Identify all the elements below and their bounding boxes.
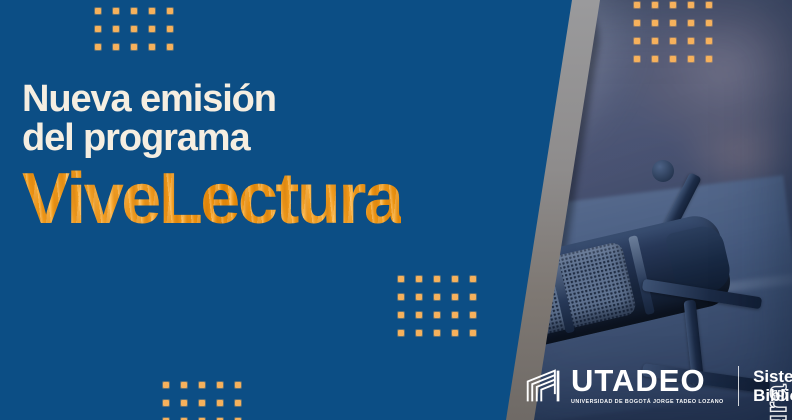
- decorative-dot: [398, 294, 404, 300]
- decorative-dot: [181, 400, 187, 406]
- decorative-dot: [416, 330, 422, 336]
- decorative-dot: [235, 382, 241, 388]
- decorative-dot: [652, 2, 658, 8]
- decorative-dot: [452, 276, 458, 282]
- decorative-dot: [167, 8, 173, 14]
- decorative-dot: [163, 400, 169, 406]
- decorative-dot: [434, 330, 440, 336]
- decorative-dot: [181, 382, 187, 388]
- decorative-dot: [217, 400, 223, 406]
- decorative-dot: [470, 294, 476, 300]
- decorative-dot: [163, 382, 169, 388]
- decorative-dot: [416, 312, 422, 318]
- page-title: Nueva emisión del programa: [22, 80, 276, 158]
- decorative-dot: [670, 56, 676, 62]
- decorative-dot: [235, 400, 241, 406]
- decorative-dot: [149, 44, 155, 50]
- vivelectura-wordmark: ViveLectura: [22, 163, 401, 235]
- decorative-dot: [149, 8, 155, 14]
- decorative-dot: [470, 330, 476, 336]
- decorative-dot: [470, 276, 476, 282]
- decorative-dot: [452, 294, 458, 300]
- decorative-dot: [688, 38, 694, 44]
- decorative-dot: [670, 2, 676, 8]
- decorative-dot: [670, 20, 676, 26]
- decorative-dot: [452, 312, 458, 318]
- decorative-dot: [652, 20, 658, 26]
- utadeo-name: UTADEO: [571, 367, 724, 396]
- decorative-dot: [688, 56, 694, 62]
- decorative-dot: [398, 276, 404, 282]
- promo-banner: Nueva emisión del programa ViveLectura V…: [0, 0, 792, 420]
- decorative-dot: [634, 56, 640, 62]
- decorative-dot: [434, 312, 440, 318]
- decorative-dot: [131, 26, 137, 32]
- decorative-dot: [688, 2, 694, 8]
- utadeo-text-block: UTADEO UNIVERSIDAD DE BOGOTÁ JORGE TADEO…: [571, 367, 724, 405]
- decorative-dot: [113, 8, 119, 14]
- decorative-dot: [452, 330, 458, 336]
- decorative-dot: [167, 26, 173, 32]
- decorative-dot: [652, 38, 658, 44]
- decorative-dot: [706, 20, 712, 26]
- decorative-dot: [167, 44, 173, 50]
- decorative-dot: [706, 2, 712, 8]
- utadeo-logo-lockup: UTADEO UNIVERSIDAD DE BOGOTÁ JORGE TADEO…: [524, 366, 792, 406]
- decorative-dot: [706, 56, 712, 62]
- decorative-dot: [199, 400, 205, 406]
- decorative-dot: [95, 8, 101, 14]
- decorative-dot: [131, 44, 137, 50]
- utadeo-tagline: UNIVERSIDAD DE BOGOTÁ JORGE TADEO LOZANO: [571, 399, 724, 405]
- decorative-dot: [113, 44, 119, 50]
- decorative-dot: [434, 294, 440, 300]
- decorative-dot: [634, 20, 640, 26]
- decorative-dot: [652, 56, 658, 62]
- decorative-dot: [634, 2, 640, 8]
- decorative-dot: [398, 330, 404, 336]
- decorative-dot: [416, 276, 422, 282]
- decorative-dot: [416, 294, 422, 300]
- decorative-dot: [434, 276, 440, 282]
- sistema-bibliotecas-label: Sistema de Bibliotecas: [753, 367, 792, 405]
- decorative-dot: [217, 382, 223, 388]
- decorative-dot: [95, 26, 101, 32]
- logo-divider: [738, 366, 740, 406]
- decorative-dot: [149, 26, 155, 32]
- decorative-dot: [470, 312, 476, 318]
- decorative-dot: [706, 38, 712, 44]
- decorative-dot: [95, 44, 101, 50]
- decorative-dot: [113, 26, 119, 32]
- utadeo-logo: UTADEO UNIVERSIDAD DE BOGOTÁ JORGE TADEO…: [524, 367, 724, 405]
- decorative-dot: [688, 20, 694, 26]
- decorative-dot: [670, 38, 676, 44]
- decorative-dot: [398, 312, 404, 318]
- decorative-dot: [131, 8, 137, 14]
- utadeo-book-stack-icon: [524, 367, 564, 405]
- decorative-dot: [199, 382, 205, 388]
- decorative-dot: [634, 38, 640, 44]
